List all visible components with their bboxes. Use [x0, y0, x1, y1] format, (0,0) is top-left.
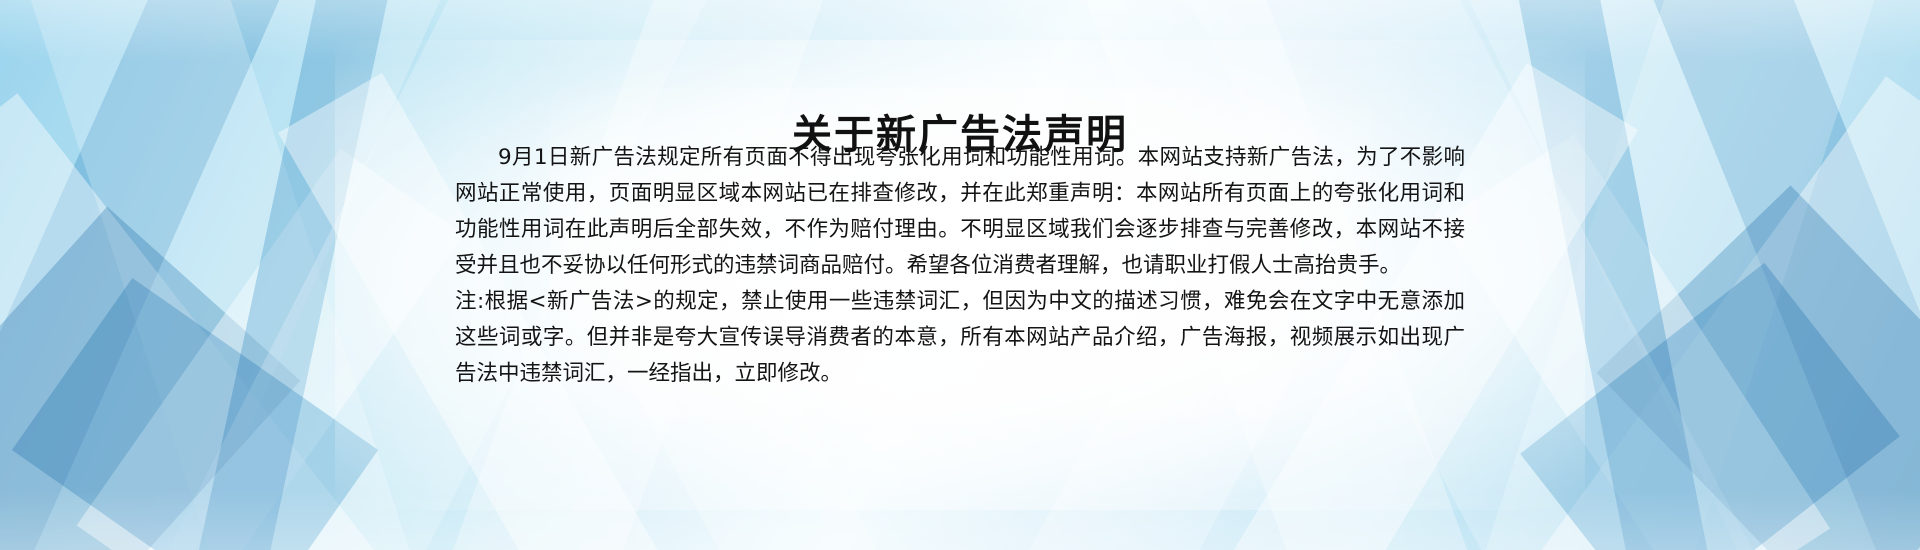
statement-content: 关于新广告法声明 9月1日新广告法规定所有页面不得出现夸张化用词和功能性用词。本…	[455, 0, 1465, 550]
statement-paragraph-2: 注:根据<新广告法>的规定，禁止使用一些违禁词汇，但因为中文的描述习惯，难免会在…	[455, 284, 1465, 392]
statement-paragraph-1: 9月1日新广告法规定所有页面不得出现夸张化用词和功能性用词。本网站支持新广告法，…	[455, 140, 1465, 284]
advertising-law-statement-banner: 关于新广告法声明 9月1日新广告法规定所有页面不得出现夸张化用词和功能性用词。本…	[0, 0, 1920, 550]
statement-body: 9月1日新广告法规定所有页面不得出现夸张化用词和功能性用词。本网站支持新广告法，…	[455, 140, 1465, 392]
